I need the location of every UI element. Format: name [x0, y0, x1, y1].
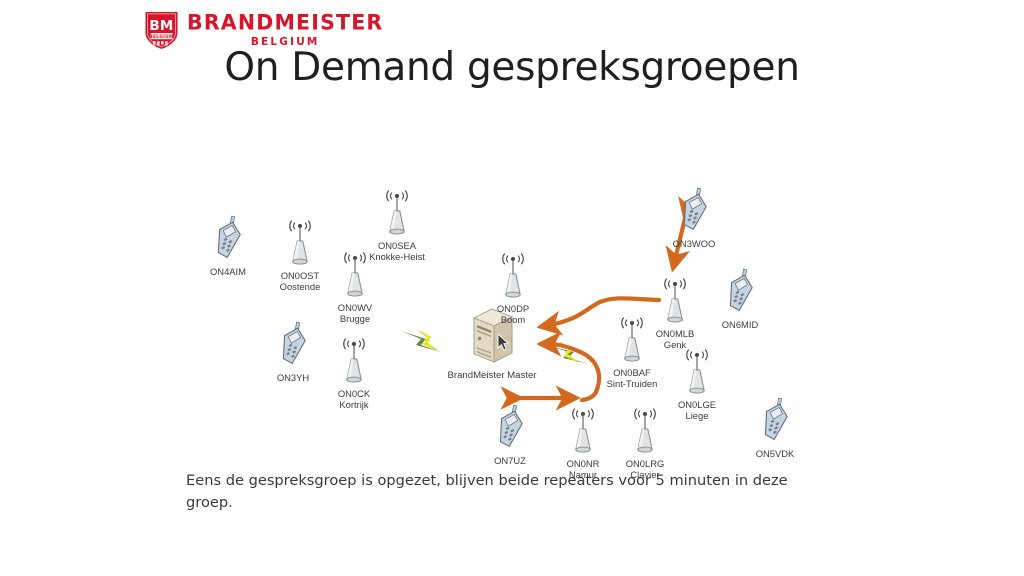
caption-text: Eens de gespreksgroep is opgezet, blijve… [186, 470, 796, 514]
node-sublabel: Kortrijk [339, 399, 368, 410]
handheld-radio-icon [677, 186, 711, 236]
handheld-radio-icon [493, 403, 527, 453]
handheld-radio-icon [758, 396, 792, 446]
handheld-radio-icon [723, 267, 757, 317]
repeater-tower-icon [337, 334, 371, 386]
node-on5vdk[interactable]: ON5VDK [729, 396, 821, 459]
node-label: ON0CK [338, 388, 370, 399]
repeater-tower-icon [628, 404, 662, 456]
node-label: ON0BAF [613, 367, 651, 378]
node-on0dp[interactable]: ON0DPBoom [467, 249, 559, 326]
node-sublabel: Boom [501, 314, 526, 325]
node-label: ON4AIM [210, 266, 246, 277]
slide-canvas: BM BELGIUM BRANDMEISTER BELGIUM On Deman… [0, 0, 1024, 576]
node-label: ON6MID [722, 319, 758, 330]
node-sublabel: Brugge [340, 313, 370, 324]
handheld-radio-icon [276, 320, 310, 370]
node-on0wv[interactable]: ON0WVBrugge [309, 248, 401, 325]
node-label: ON0WV [338, 302, 372, 313]
node-label: ON3YH [277, 372, 309, 383]
node-label: ON0NR [567, 458, 600, 469]
node-sublabel: Sint-Truiden [607, 378, 658, 389]
node-label: BrandMeister Master [447, 370, 536, 382]
repeater-tower-icon [566, 404, 600, 456]
repeater-tower-icon [380, 186, 414, 238]
node-label: ON0DP [497, 303, 529, 314]
repeater-tower-icon [680, 345, 714, 397]
node-label: ON0LRG [626, 458, 665, 469]
repeater-tower-icon [338, 248, 372, 300]
node-label: ON3WOO [673, 238, 716, 249]
rf-link-bolt-left [401, 331, 441, 352]
node-label: ON7UZ [494, 455, 526, 466]
rf-link-bolt-right [549, 342, 589, 364]
node-on0ck[interactable]: ON0CKKortrijk [308, 334, 400, 411]
node-label: ON5VDK [756, 448, 795, 459]
arrow-master-to-nr [582, 392, 596, 400]
repeater-tower-icon [496, 249, 530, 301]
repeater-tower-icon [615, 313, 649, 365]
handheld-radio-icon [211, 214, 245, 264]
node-on3woo[interactable]: ON3WOO [648, 186, 740, 249]
